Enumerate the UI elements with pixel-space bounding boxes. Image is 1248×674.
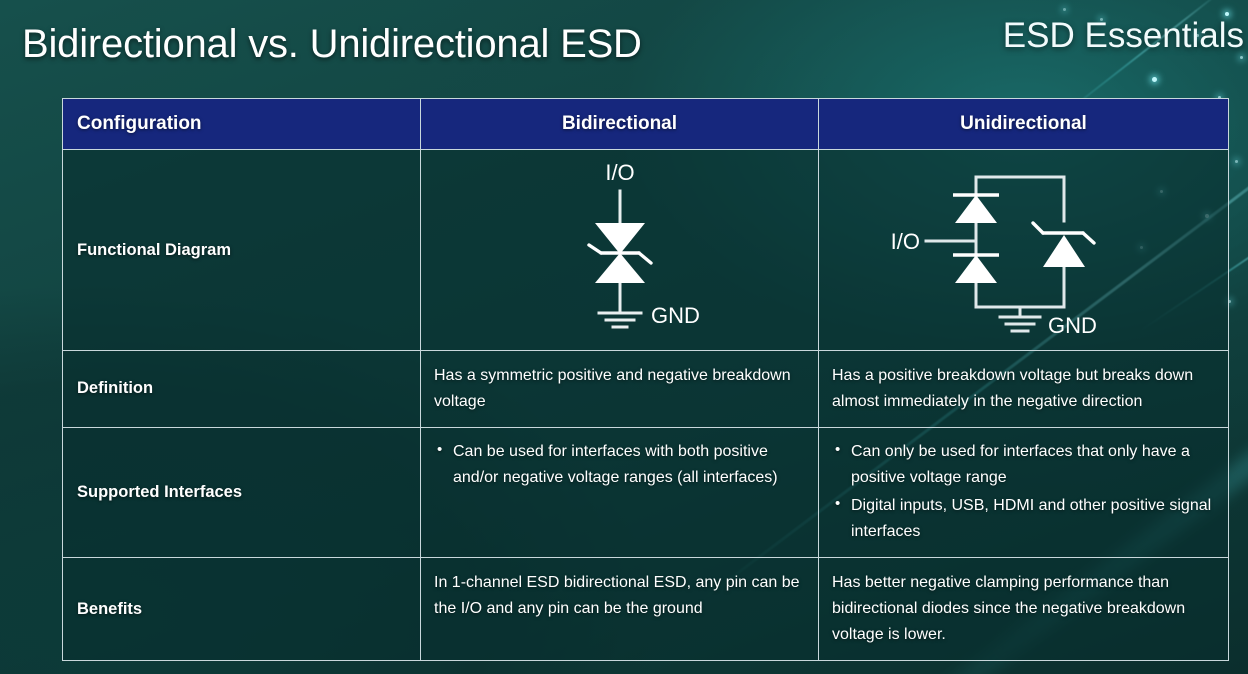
table-row: Supported Interfaces Can be used for int…: [63, 427, 1229, 558]
column-header-configuration: Configuration: [63, 99, 421, 150]
cell-benefits-unidirectional: Has better negative clamping performance…: [819, 558, 1229, 661]
cell-definition-bidirectional: Has a symmetric positive and negative br…: [421, 351, 819, 428]
slide-canvas: Bidirectional vs. Unidirectional ESD ESD…: [0, 0, 1248, 674]
cell-supported-interfaces-unidirectional: Can only be used for interfaces that onl…: [819, 427, 1229, 558]
table-body: Functional Diagram: [63, 150, 1229, 661]
diode-triangle-lower: [595, 253, 645, 283]
comparison-table: Configuration Bidirectional Unidirection…: [62, 98, 1229, 661]
row-label-functional-diagram: Functional Diagram: [63, 150, 421, 351]
io-label-unidirectional: I/O: [890, 229, 919, 254]
sparkle-dot: [1235, 160, 1238, 163]
cell-benefits-bidirectional: In 1-channel ESD bidirectional ESD, any …: [421, 558, 819, 661]
table-header-row: Configuration Bidirectional Unidirection…: [63, 99, 1229, 150]
bullet-list-bidirectional: Can be used for interfaces with both pos…: [431, 439, 806, 491]
row-label-definition: Definition: [63, 351, 421, 428]
bullet-list-unidirectional: Can only be used for interfaces that onl…: [829, 439, 1216, 545]
page-title: Bidirectional vs. Unidirectional ESD: [22, 22, 642, 67]
table-row: Definition Has a symmetric positive and …: [63, 351, 1229, 428]
diode-triangle-upper: [595, 223, 645, 254]
cell-supported-interfaces-bidirectional: Can be used for interfaces with both pos…: [421, 427, 819, 558]
cell-definition-unidirectional: Has a positive breakdown voltage but bre…: [819, 351, 1229, 428]
io-label-bidirectional: I/O: [605, 160, 634, 185]
unidirectional-esd-circuit-icon: I/O GND: [884, 155, 1164, 345]
column-header-unidirectional: Unidirectional: [819, 99, 1229, 150]
list-item: Digital inputs, USB, HDMI and other posi…: [851, 493, 1216, 545]
list-item: Can only be used for interfaces that onl…: [851, 439, 1216, 491]
gnd-label-bidirectional: GND: [651, 303, 700, 328]
slide-header: Bidirectional vs. Unidirectional ESD ESD…: [0, 0, 1248, 92]
gnd-label-unidirectional: GND: [1048, 313, 1097, 338]
bidirectional-tvs-diode-icon: I/O GND: [515, 155, 725, 345]
cell-bidirectional-diagram: I/O GND: [421, 150, 819, 351]
table-header: Configuration Bidirectional Unidirection…: [63, 99, 1229, 150]
zener-diode: [1043, 235, 1085, 267]
row-label-benefits: Benefits: [63, 558, 421, 661]
column-header-bidirectional: Bidirectional: [421, 99, 819, 150]
steering-diode-lower: [955, 255, 997, 283]
cell-unidirectional-diagram: I/O GND: [819, 150, 1229, 351]
list-item: Can be used for interfaces with both pos…: [453, 439, 806, 491]
table-row: Functional Diagram: [63, 150, 1229, 351]
series-label: ESD Essentials: [1003, 16, 1244, 56]
row-label-supported-interfaces: Supported Interfaces: [63, 427, 421, 558]
steering-diode-upper: [955, 195, 997, 223]
table-row: Benefits In 1-channel ESD bidirectional …: [63, 558, 1229, 661]
